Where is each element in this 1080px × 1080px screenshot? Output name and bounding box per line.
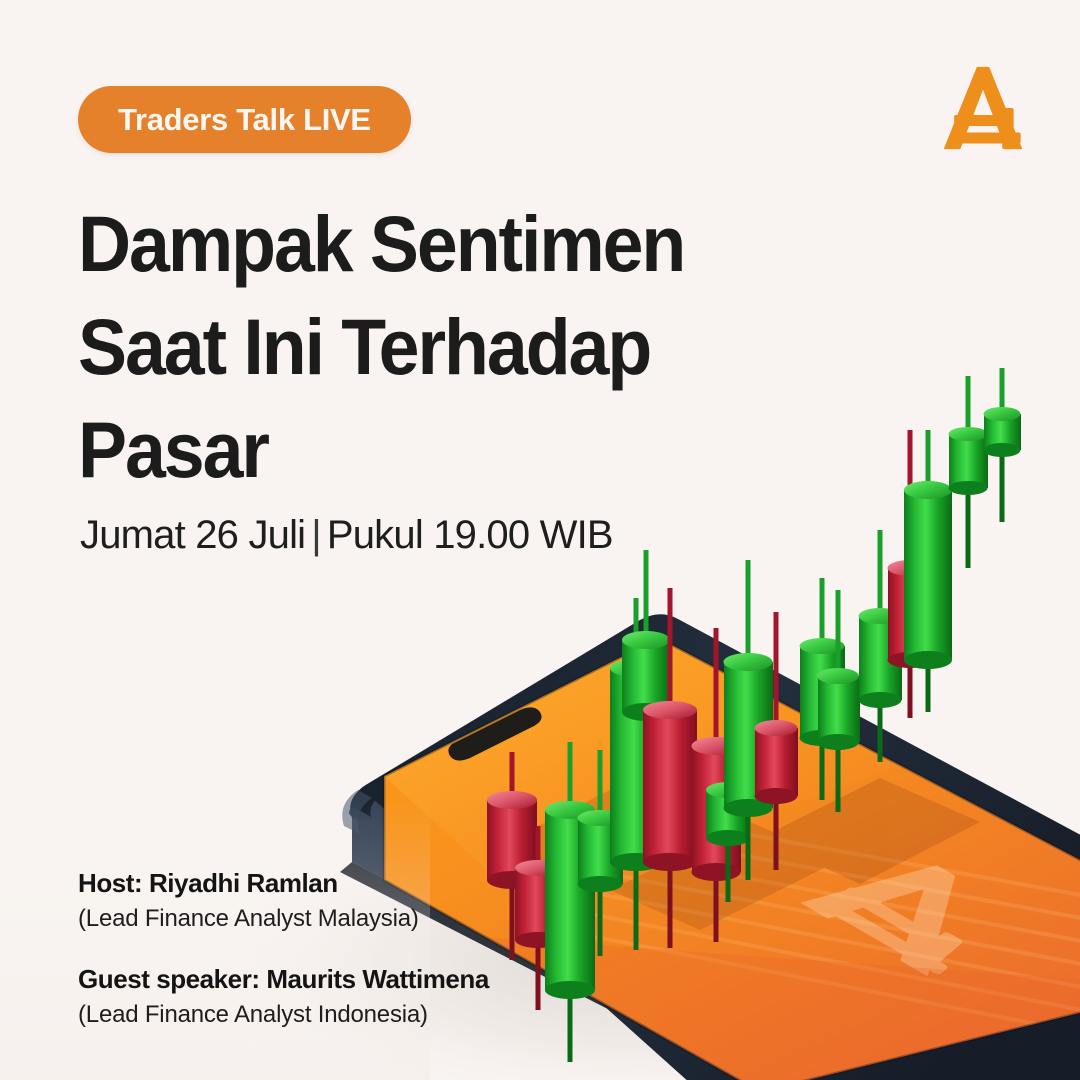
datetime-separator: |: [305, 513, 327, 557]
headline-line-3: Pasar: [78, 398, 803, 501]
content-layer: Traders Talk LIVE Dampak Sentimen Saat I…: [0, 0, 1080, 1080]
credit-host: Host: Riyadhi Ramlan (Lead Finance Analy…: [78, 866, 489, 935]
credit-guest: Guest speaker: Maurits Wattimena (Lead F…: [78, 962, 489, 1031]
live-badge-label: Traders Talk LIVE: [118, 102, 371, 138]
page-title: Dampak Sentimen Saat Ini Terhadap Pasar: [78, 192, 803, 501]
headline-line-1: Dampak Sentimen: [78, 192, 803, 295]
host-name: Host: Riyadhi Ramlan: [78, 866, 489, 900]
poster-canvas: Traders Talk LIVE Dampak Sentimen Saat I…: [0, 0, 1080, 1080]
event-datetime: Jumat 26 Juli|Pukul 19.00 WIB: [80, 513, 613, 558]
event-date: Jumat 26 Juli: [80, 513, 305, 557]
headline-line-2: Saat Ini Terhadap: [78, 295, 803, 398]
host-role: (Lead Finance Analyst Malaysia): [78, 902, 489, 935]
event-time: Pukul 19.00 WIB: [327, 513, 613, 557]
live-badge[interactable]: Traders Talk LIVE: [78, 86, 411, 153]
speaker-credits: Host: Riyadhi Ramlan (Lead Finance Analy…: [78, 866, 489, 1031]
anz-a-logo-icon: [941, 62, 1025, 154]
guest-name: Guest speaker: Maurits Wattimena: [78, 962, 489, 996]
guest-role: (Lead Finance Analyst Indonesia): [78, 998, 489, 1031]
